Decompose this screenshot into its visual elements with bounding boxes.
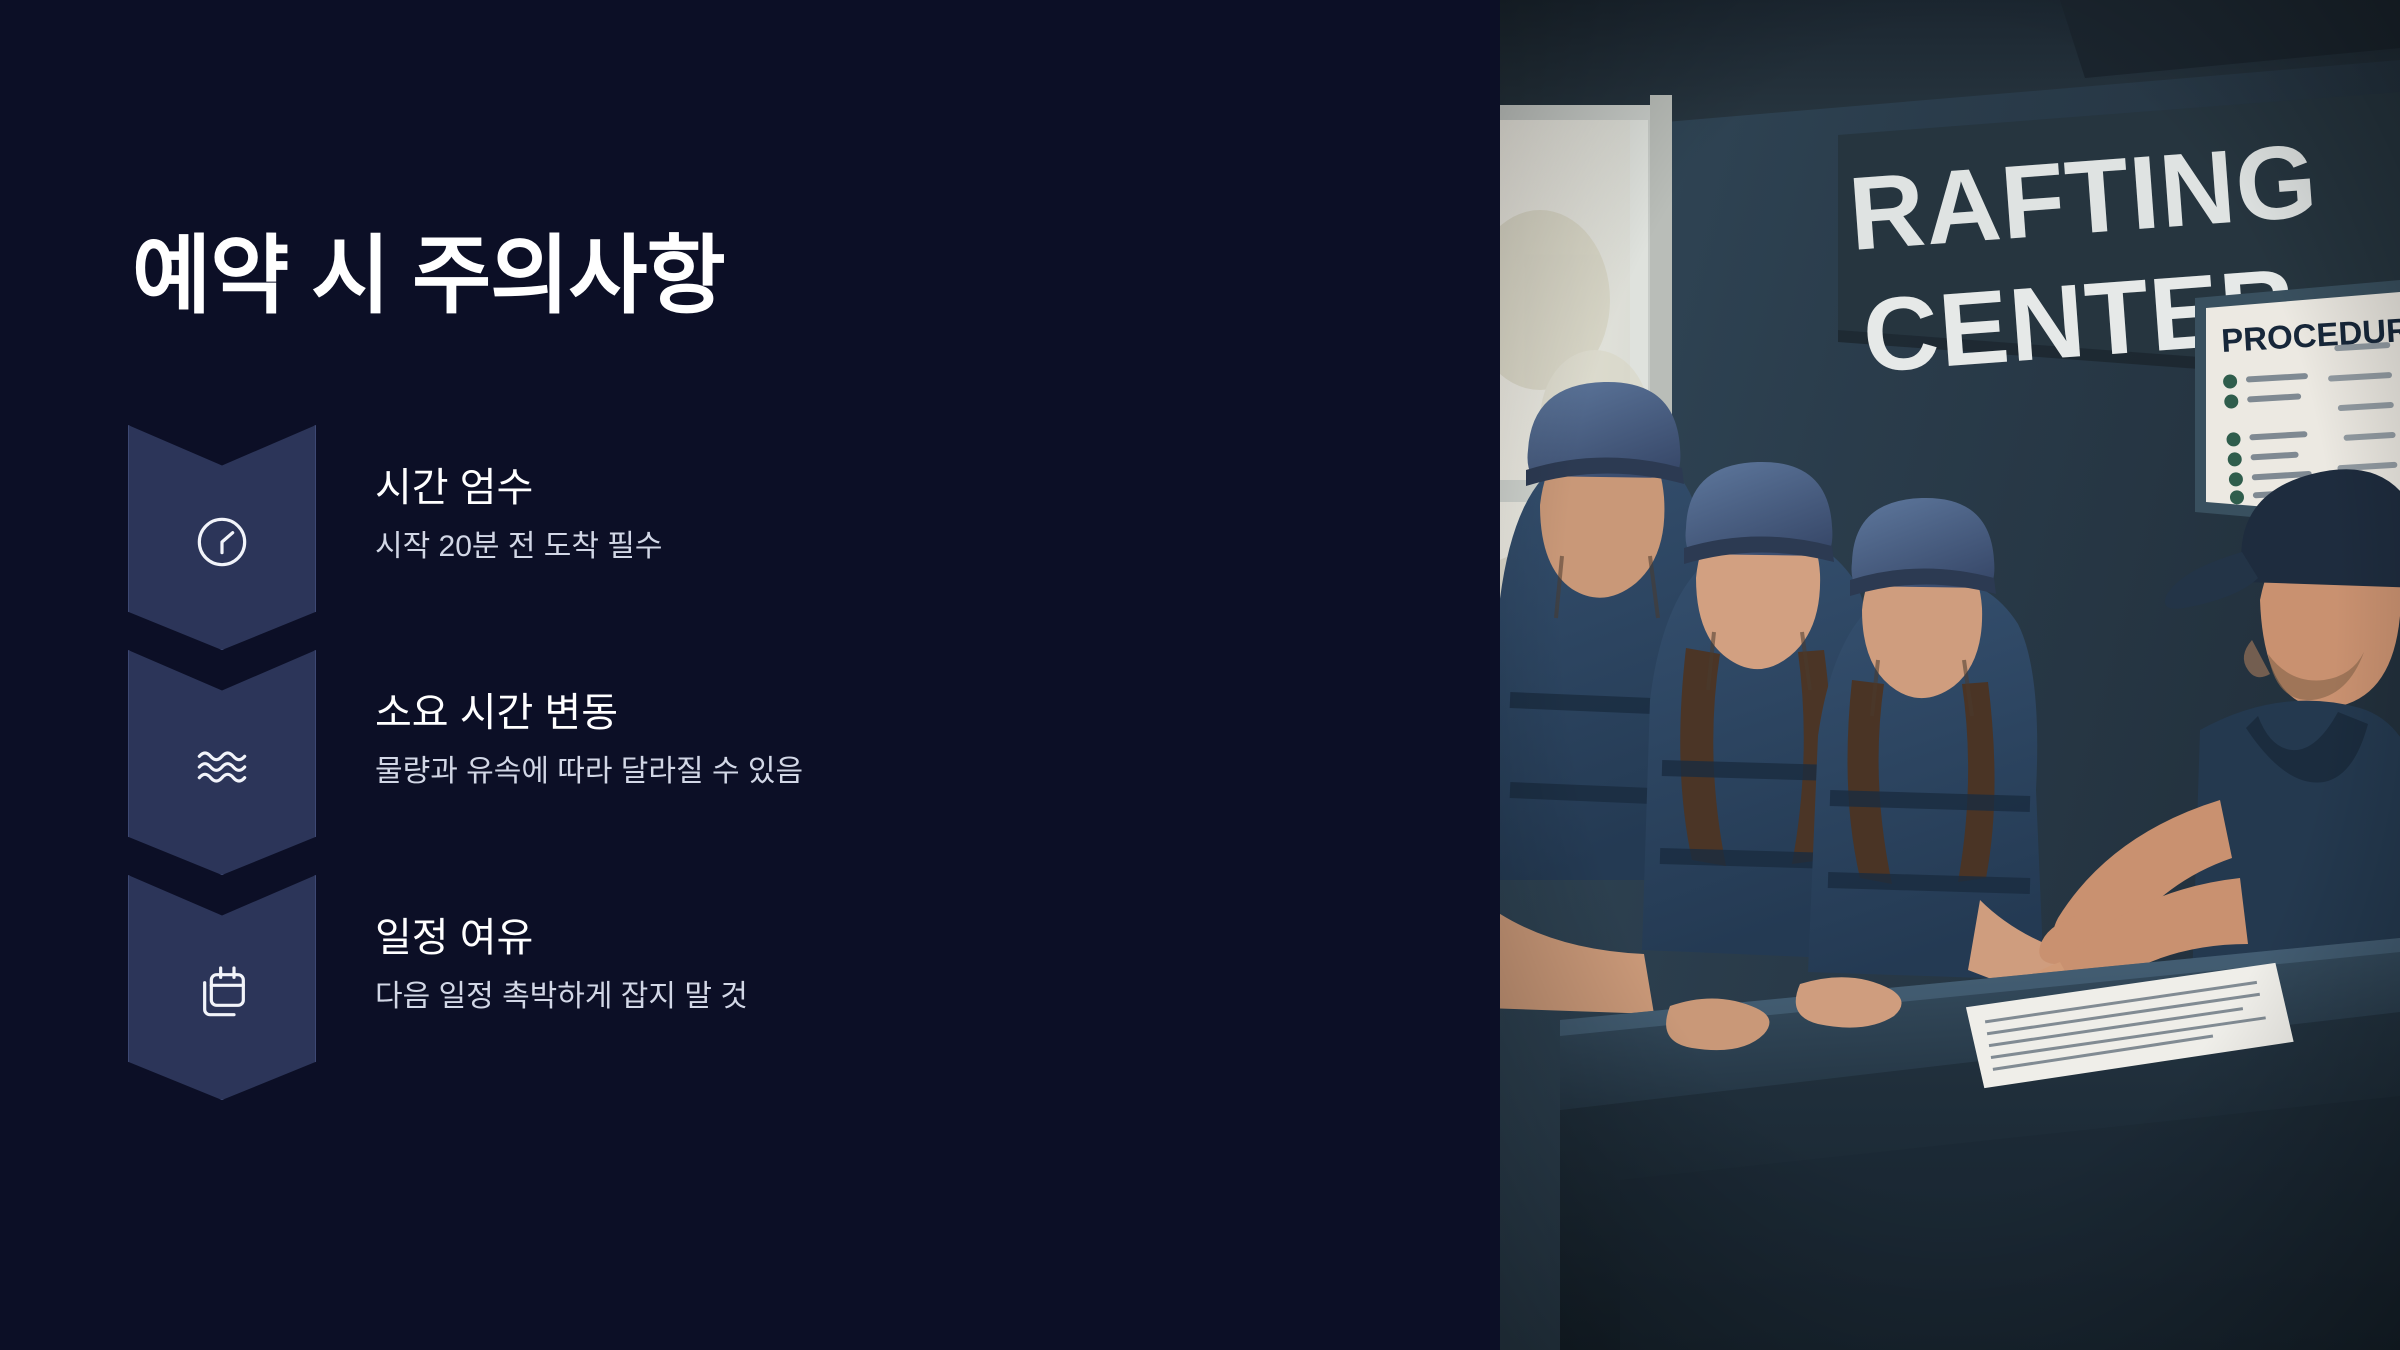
list-item-text: 시간 엄수 시작 20분 전 도착 필수: [375, 463, 663, 568]
list-item: 일정 여유 다음 일정 촉박하게 잡지 말 것: [128, 875, 1328, 1100]
slide-root: 예약 시 주의사항 시간 엄수 시작 20분 전 도착 필수: [0, 0, 2400, 1350]
notice-list: 시간 엄수 시작 20분 전 도착 필수 소요 시간 변동: [128, 425, 1328, 1100]
rafting-center-photo: RAFTING CENTER PROCEDURES: [1500, 0, 2400, 1350]
list-item: 소요 시간 변동 물량과 유속에 따라 달라질 수 있음: [128, 650, 1328, 875]
list-item-text: 일정 여유 다음 일정 촉박하게 잡지 말 것: [375, 913, 748, 1018]
list-item-subtitle: 시작 20분 전 도착 필수: [375, 527, 663, 568]
waves-icon: [190, 735, 254, 799]
badge-ribbon-3: [128, 875, 316, 1100]
page-title: 예약 시 주의사항: [132, 228, 725, 324]
list-item-title: 시간 엄수: [375, 463, 663, 513]
list-item-subtitle: 물량과 유속에 따라 달라질 수 있음: [375, 752, 803, 793]
clock-icon: [190, 510, 254, 574]
badge-ribbon-2: [128, 650, 316, 875]
list-item-subtitle: 다음 일정 촉박하게 잡지 말 것: [375, 977, 748, 1018]
badge-ribbon-1: [128, 425, 316, 650]
list-item-text: 소요 시간 변동 물량과 유속에 따라 달라질 수 있음: [375, 688, 803, 793]
left-content-panel: 예약 시 주의사항 시간 엄수 시작 20분 전 도착 필수: [0, 0, 1500, 1350]
list-item: 시간 엄수 시작 20분 전 도착 필수: [128, 425, 1328, 650]
list-item-title: 일정 여유: [375, 913, 748, 963]
calendar-icon: [190, 960, 254, 1024]
list-item-title: 소요 시간 변동: [375, 688, 803, 738]
